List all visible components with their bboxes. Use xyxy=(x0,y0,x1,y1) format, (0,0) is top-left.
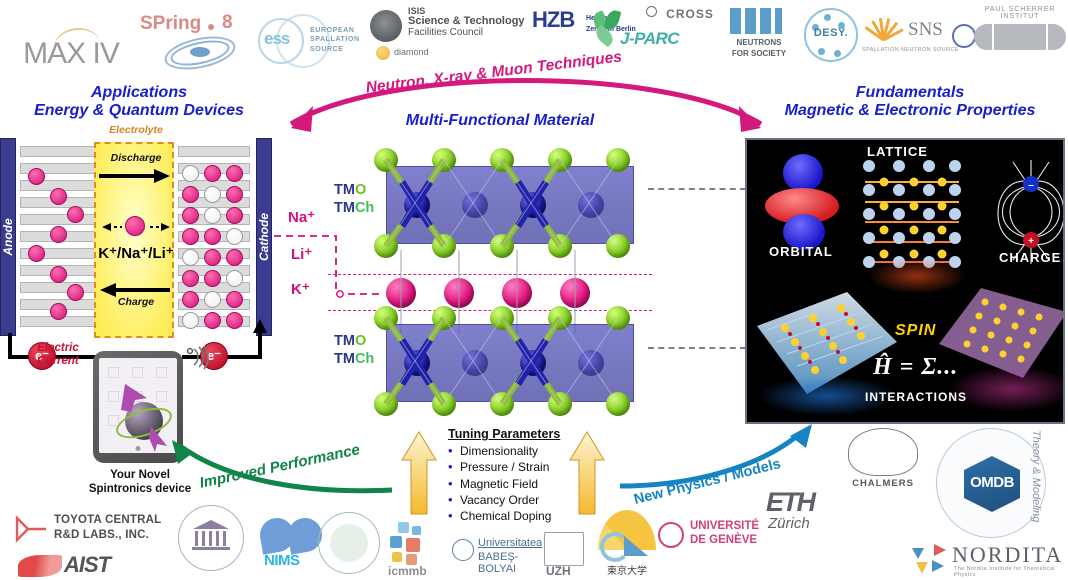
spring8-core-icon xyxy=(190,47,210,57)
ill-subtitle: NEUTRONSFOR SOCIETY xyxy=(722,38,796,60)
svg-text:+: + xyxy=(1028,236,1034,247)
uzh-wordmark: UZH xyxy=(546,564,571,578)
cathode-ion xyxy=(204,228,221,245)
electric-current-line1: Electric xyxy=(37,342,79,354)
cathode-vacancy xyxy=(182,249,199,266)
cathode-ion xyxy=(182,207,199,224)
logo-spring-8: SPring 8 xyxy=(140,14,250,68)
ess-wordmark: ess xyxy=(264,30,289,48)
logo-university-of-tokyo: 東京大学 xyxy=(592,510,662,578)
discharge-label: Discharge xyxy=(96,152,176,164)
anode-ion xyxy=(67,206,84,223)
tmch-bottom-anion: Ch xyxy=(355,351,374,367)
cathode-ion xyxy=(204,249,221,266)
jparc-leaf-icon-2 xyxy=(604,9,622,32)
applications-subtitle: Energy & Quantum Devices xyxy=(8,102,270,120)
anode-ion xyxy=(28,168,45,185)
jparc-wordmark: J-PARC xyxy=(620,30,679,48)
charge-label-physics: CHARGE xyxy=(999,250,1061,265)
toyota-line1: TOYOTA CENTRAL xyxy=(54,514,161,526)
infographic-canvas: MAX IV SPring 8 ess EUROPEANSPALLATIONSO… xyxy=(0,0,1068,580)
orbital-lobe-top-icon xyxy=(783,154,823,192)
anode-label: Anode xyxy=(1,218,15,255)
cathode-ion xyxy=(182,186,199,203)
logo-psi: PAUL SCHERRER INSTITUT PSI xyxy=(972,6,1068,66)
mobile-ion xyxy=(125,216,145,236)
toyota-mark-icon xyxy=(14,512,48,546)
svg-text:–: – xyxy=(1028,180,1034,191)
anode-ion xyxy=(50,303,67,320)
cathode-ion xyxy=(204,312,221,329)
electrolyte-label: Electrolyte xyxy=(96,124,176,136)
logo-universite-de-geneve: UNIVERSITÉ DE GENÈVE xyxy=(658,520,770,560)
mpi-minerva-icon xyxy=(330,524,368,562)
discharge-arrow xyxy=(94,164,176,188)
crystal-label-tmch-bottom: TMCh xyxy=(334,351,374,367)
battery-anode: Anode xyxy=(0,138,16,336)
omdb-tagline: Theory & Modeling xyxy=(1026,430,1042,538)
spring8-number: 8 xyxy=(222,13,233,33)
tmch-top-anion: Ch xyxy=(355,200,374,216)
logo-ill: NEUTRONSFOR SOCIETY xyxy=(722,8,796,66)
chalmers-crest-icon xyxy=(848,428,918,476)
logo-toyota-central-rd: TOYOTA CENTRAL R&D LABS., INC. xyxy=(14,512,174,546)
fundamentals-subtitle: Magnetic & Electronic Properties xyxy=(760,102,1060,120)
logo-max-planck xyxy=(318,512,380,574)
cathode-ion xyxy=(182,228,199,245)
physics-properties-panel: – + xyxy=(745,138,1065,424)
tmch-top-prefix: TM xyxy=(334,200,355,216)
battery-schematic: Anode Cathode xyxy=(0,138,290,343)
psi-wordmark: PSI xyxy=(994,22,1046,52)
tuning-up-arrow-left xyxy=(400,430,438,516)
crystal-slab-bottom xyxy=(368,300,648,428)
chalmers-wordmark: CHALMERS xyxy=(842,478,924,489)
interactions-label: INTERACTIONS xyxy=(865,390,967,404)
cathode-ion xyxy=(226,207,243,224)
anode-ion xyxy=(67,284,84,301)
logo-max-iv: MAX IV xyxy=(6,34,136,74)
ion-species-label: K⁺/Na⁺/Li⁺ xyxy=(90,244,182,262)
aist-wordmark: AIST xyxy=(64,552,110,578)
logo-uzh: UZH xyxy=(540,532,590,578)
cross-circle-icon xyxy=(646,6,657,17)
heading-fundamentals: Fundamentals Magnetic & Electronic Prope… xyxy=(760,84,1060,120)
spring8-wordmark: SPring xyxy=(140,14,201,34)
connector-bottom-dashed xyxy=(648,347,746,349)
hamiltonian-equation: Ĥ = Σ... xyxy=(873,354,958,381)
cathode-ion xyxy=(226,186,243,203)
tmo-bottom-prefix: TM xyxy=(334,333,355,349)
connector-top-dashed xyxy=(648,188,746,190)
logo-omdb: OMDB Theory & Modeling xyxy=(930,424,1058,544)
tmo-top-prefix: TM xyxy=(334,182,355,198)
spring8-dot-icon xyxy=(208,24,214,30)
anode-ion xyxy=(50,266,67,283)
electric-current-line2: Current xyxy=(37,355,79,367)
icmmb-wordmark: icmmb xyxy=(388,564,427,578)
toyota-wordmark: TOYOTA CENTRAL R&D LABS., INC. xyxy=(54,513,161,543)
logo-icmmb: icmmb xyxy=(386,522,446,578)
nordita-mark-icon xyxy=(912,542,946,576)
charge-arrow xyxy=(94,278,176,302)
electric-current-label: Electric Current xyxy=(18,342,98,368)
bonds-bottom xyxy=(368,300,648,428)
cathode-vacancy xyxy=(226,228,243,245)
anode-ion xyxy=(28,245,45,262)
aist-swoosh-icon xyxy=(18,555,62,577)
diamond-wordmark: diamond xyxy=(394,48,429,57)
tablet-home-button[interactable] xyxy=(136,446,141,451)
logo-chalmers: CHALMERS xyxy=(842,428,924,494)
geneve-line2: DE GENÈVE xyxy=(690,534,757,546)
heading-applications: Applications Energy & Quantum Devices xyxy=(8,84,270,120)
cursor-icon xyxy=(121,380,155,414)
anode-ion xyxy=(50,226,67,243)
geneve-line1: UNIVERSITÉ xyxy=(690,520,759,532)
crystal-label-tmch-top: TMCh xyxy=(334,200,374,216)
cathode-ion xyxy=(204,165,221,182)
anode-ion xyxy=(50,188,67,205)
fundamentals-title: Fundamentals xyxy=(760,84,1060,102)
battery-cathode: Cathode xyxy=(256,138,272,336)
techniques-arc-arrow: Neutron, X-ray & Muon Techniques xyxy=(255,60,795,138)
nims-wordmark: NIMS xyxy=(264,552,300,569)
cathode-ion xyxy=(226,312,243,329)
cathode-vacancy xyxy=(226,270,243,287)
omdb-wordmark: OMDB xyxy=(964,474,1020,491)
applications-title: Applications xyxy=(8,84,270,102)
cathode-vacancy xyxy=(204,291,221,308)
eth-zurich-label: Zürich xyxy=(768,515,810,532)
cathode-ion xyxy=(204,270,221,287)
tmch-bottom-prefix: TM xyxy=(334,351,355,367)
isis-globe-icon xyxy=(370,10,402,42)
logo-aist: AIST xyxy=(18,552,168,580)
current-arrowhead xyxy=(250,319,270,341)
cathode-ion xyxy=(182,270,199,287)
tmo-top-anion: O xyxy=(355,182,366,198)
nordita-wordmark: NORDITA xyxy=(952,542,1063,568)
ubb-line1: Universitatea xyxy=(478,537,542,549)
utokyo-triangle-icon xyxy=(624,536,648,556)
utokyo-wordmark: 東京大学 xyxy=(594,562,660,577)
logo-eth-zurich: ETH Zürich xyxy=(766,487,850,533)
nordita-tagline: The Nordita Institute for Theoretical Ph… xyxy=(954,566,1068,578)
logo-university-of-tartu xyxy=(178,505,244,571)
wifi-icon xyxy=(186,345,216,373)
cathode-label: Cathode xyxy=(257,213,271,261)
sns-subtitle: SPALLATION NEUTRON SOURCE xyxy=(862,48,959,54)
tuning-up-arrow-right xyxy=(568,430,606,516)
cathode-ion xyxy=(182,291,199,308)
uzh-shield-icon xyxy=(544,532,584,566)
cathode-ion xyxy=(226,249,243,266)
ill-bars-icon xyxy=(730,8,786,34)
desy-wordmark: DESY. xyxy=(804,28,858,40)
geneve-seal-icon xyxy=(658,522,684,548)
cathode-vacancy xyxy=(204,207,221,224)
orbital-label: ORBITAL xyxy=(769,244,833,259)
cathode-vacancy xyxy=(204,186,221,203)
logo-diamond: diamond xyxy=(372,46,429,60)
sns-wordmark: SNS xyxy=(908,20,943,40)
toyota-line2: R&D LABS., INC. xyxy=(54,529,149,541)
isis-wordmark: ISIS Science & Technology Facilities Cou… xyxy=(408,7,525,38)
cathode-vacancy xyxy=(182,165,199,182)
eth-wordmark: ETH xyxy=(766,487,814,518)
logo-desy: DESY. xyxy=(800,8,862,66)
logo-cross: CROSS xyxy=(648,4,732,24)
hzb-wordmark: HZB xyxy=(532,8,574,31)
crystal-label-tmo-top: TMO xyxy=(334,182,366,198)
diamond-icon xyxy=(376,46,390,60)
lattice-label: LATTICE xyxy=(867,144,928,159)
cathode-vacancy xyxy=(182,312,199,329)
cathode-ion xyxy=(226,165,243,182)
logo-nordita: NORDITA The Nordita Institute for Theore… xyxy=(912,542,1068,580)
tmo-bottom-anion: O xyxy=(355,333,366,349)
stfc-line2: Facilities Council xyxy=(408,28,525,39)
ess-subtitle: EUROPEANSPALLATIONSOURCE xyxy=(310,26,360,54)
crystal-label-tmo-bottom: TMO xyxy=(334,333,366,349)
cross-wordmark: CROSS xyxy=(666,8,714,21)
tartu-building-icon xyxy=(191,520,231,552)
ubb-seal-icon xyxy=(452,539,474,561)
logo-isis-stfc: ISIS Science & Technology Facilities Cou… xyxy=(370,6,530,68)
spin-label: SPIN xyxy=(895,322,936,340)
cathode-ion xyxy=(226,291,243,308)
